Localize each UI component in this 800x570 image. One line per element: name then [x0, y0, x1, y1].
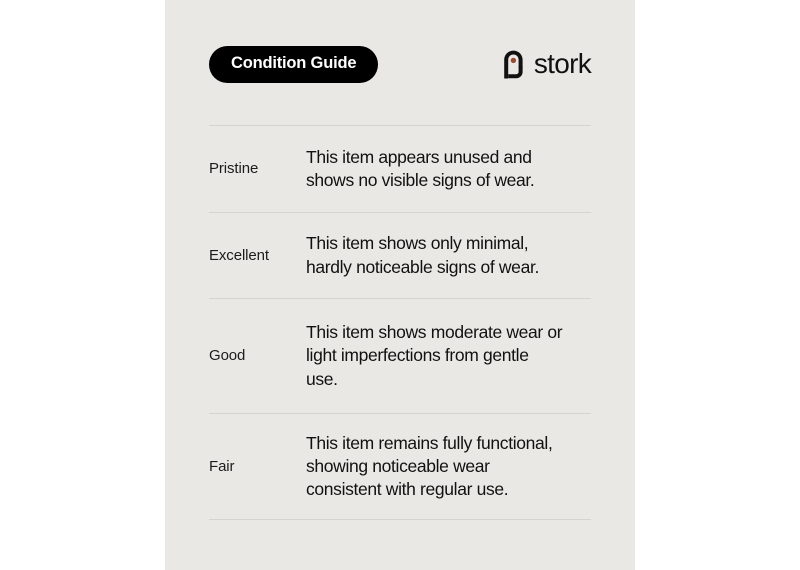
condition-label: Pristine	[209, 160, 306, 178]
table-row: Fair This item remains fully functional,…	[209, 414, 591, 519]
brand-wordmark: stork	[534, 50, 591, 78]
condition-description: This item shows only minimal, hardly not…	[306, 232, 591, 279]
table-row: Excellent This item shows only minimal, …	[209, 213, 591, 298]
condition-table: Pristine This item appears unused and sh…	[209, 125, 591, 520]
condition-label: Fair	[209, 458, 306, 476]
brand-lockup: stork	[500, 48, 591, 79]
condition-guide-badge[interactable]: Condition Guide	[209, 46, 378, 83]
table-divider-bottom	[209, 519, 591, 520]
page-root: Condition Guide stork Pristine This item	[0, 0, 800, 570]
condition-label: Excellent	[209, 247, 306, 265]
condition-label: Good	[209, 347, 306, 365]
table-row: Pristine This item appears unused and sh…	[209, 126, 591, 212]
condition-description: This item appears unused and shows no vi…	[306, 146, 591, 193]
condition-description: This item remains fully functional, show…	[306, 432, 591, 502]
condition-guide-card: Condition Guide stork Pristine This item	[165, 0, 635, 570]
table-row: Good This item shows moderate wear or li…	[209, 299, 591, 413]
stork-arch-logo-icon	[500, 48, 527, 79]
card-header: Condition Guide stork	[209, 0, 591, 125]
condition-description: This item shows moderate wear or light i…	[306, 321, 591, 391]
